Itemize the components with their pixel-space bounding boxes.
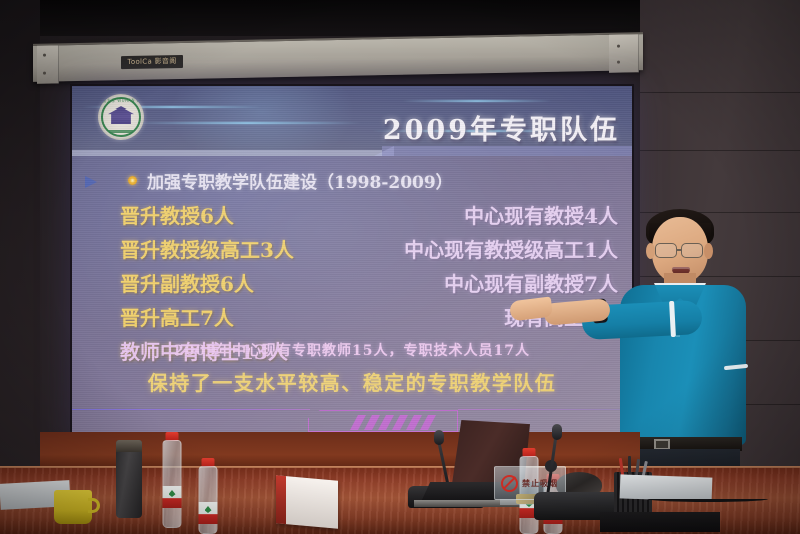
- row-left-label: 晋升高工7人: [120, 302, 234, 331]
- summary-line-1: 2009年中心现有专职教师15人，专职技术人员17人: [72, 340, 632, 360]
- glasses-lens-right-icon: [681, 243, 703, 258]
- projection-screen: 武汉大学 WUHAN UNIVERSITY 2009年专职队伍 加强专职教学队伍…: [72, 86, 632, 450]
- ear-right: [704, 243, 713, 259]
- table-row: 晋升教授6人 中心现有教授4人: [72, 200, 632, 234]
- slide-title: 2009年专职队伍: [383, 108, 620, 147]
- decorative-chevron-band: [72, 408, 632, 434]
- water-bottle: [160, 432, 184, 528]
- screen-bracket-right: [609, 34, 639, 73]
- microphone-head: [434, 430, 444, 445]
- university-emblem-icon: 武汉大学 WUHAN UNIVERSITY: [98, 94, 144, 140]
- binder: [600, 512, 720, 532]
- row-left-label: 晋升副教授6人: [120, 268, 254, 297]
- slide-header-band: 武汉大学 WUHAN UNIVERSITY 2009年专职队伍: [72, 86, 632, 156]
- no-smoking-label: 禁止吸烟: [522, 478, 558, 489]
- housing-brand-label: ToolCa 影音阁: [121, 55, 183, 69]
- row-right-label: 中心现有副教授7人: [444, 268, 618, 297]
- water-bottle: [196, 458, 220, 534]
- cable: [648, 496, 768, 502]
- glasses-lens-left-icon: [655, 243, 677, 258]
- bullet-heading-text: 加强专职教学队伍建设（1998-2009）: [147, 168, 453, 193]
- screen-bracket-left: [37, 45, 59, 83]
- bullet-dot-icon: [128, 176, 137, 185]
- row-left-label: 晋升教授6人: [120, 200, 234, 229]
- thermos: [116, 440, 142, 518]
- lecture-hall-scene: ToolCa 影音阁 武汉大学 WUHAN UNIVERSITY 2009年专职…: [0, 0, 800, 534]
- glasses-bridge: [677, 249, 682, 251]
- header-step-divider: [72, 146, 632, 156]
- microphone-head: [552, 424, 562, 440]
- left-triangle-marker-icon: [85, 176, 97, 188]
- name-card: [276, 475, 338, 528]
- row-left-label: 晋升教授级高工3人: [120, 234, 294, 263]
- row-right-label: 中心现有教授4人: [464, 200, 618, 229]
- yellow-mug: [54, 490, 92, 524]
- slide-summary: 2009年中心现有专职教师15人，专职技术人员17人 保持了一支水平较高、稳定的…: [72, 340, 632, 396]
- summary-line-2: 保持了一支水平较高、稳定的专职教学队伍: [72, 367, 632, 396]
- ear-left: [646, 243, 655, 259]
- presentation-slide: 武汉大学 WUHAN UNIVERSITY 2009年专职队伍 加强专职教学队伍…: [72, 86, 632, 450]
- table-row: 晋升教授级高工3人 中心现有教授级高工1人: [72, 234, 632, 268]
- slide-bullet-heading: 加强专职教学队伍建设（1998-2009）: [128, 168, 453, 193]
- row-right-label: 中心现有教授级高工1人: [404, 234, 618, 263]
